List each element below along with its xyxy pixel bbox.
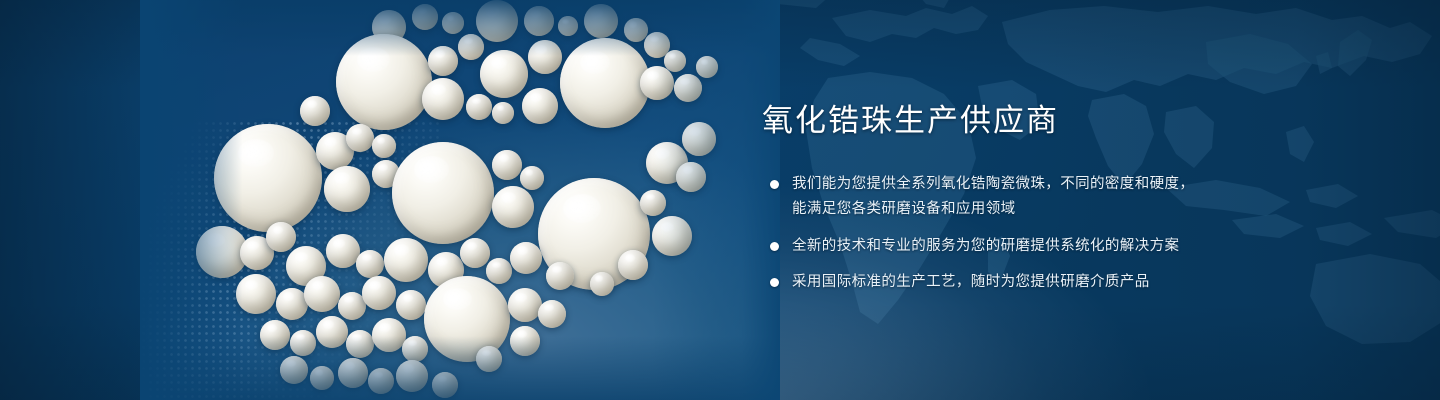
- bullet-line: 我们能为您提供全系列氧化锆陶瓷微珠，不同的密度和硬度，: [792, 172, 1322, 197]
- bead: [652, 216, 692, 256]
- bead: [346, 124, 374, 152]
- bead: [372, 134, 396, 158]
- bead: [480, 50, 528, 98]
- bead: [618, 250, 648, 280]
- bead: [368, 368, 394, 394]
- bead: [560, 38, 650, 128]
- bead: [280, 356, 308, 384]
- bead: [682, 122, 716, 156]
- bead: [402, 336, 428, 362]
- bead: [214, 124, 322, 232]
- bead: [428, 46, 458, 76]
- bead: [538, 300, 566, 328]
- bead: [476, 346, 502, 372]
- bead: [492, 102, 514, 124]
- bullet-dot-icon: [770, 242, 779, 251]
- bead: [522, 88, 558, 124]
- bead: [412, 4, 438, 30]
- bead: [290, 330, 316, 356]
- bead: [640, 190, 666, 216]
- bead: [260, 320, 290, 350]
- bead: [476, 0, 518, 42]
- bead: [460, 238, 490, 268]
- bullet-dot-icon: [770, 278, 779, 287]
- bullet-line: 全新的技术和专业的服务为您的研磨提供系统化的解决方案: [792, 234, 1322, 259]
- bead: [304, 276, 340, 312]
- bead: [372, 318, 406, 352]
- hero-banner: 氧化锆珠生产供应商 我们能为您提供全系列氧化锆陶瓷微珠，不同的密度和硬度， 能满…: [0, 0, 1440, 400]
- bead: [524, 6, 554, 36]
- bead: [396, 360, 428, 392]
- bead: [316, 316, 348, 348]
- bead: [422, 78, 464, 120]
- bead: [326, 234, 360, 268]
- bead: [338, 358, 368, 388]
- bead: [396, 290, 426, 320]
- bead: [492, 150, 522, 180]
- bullet-dot-icon: [770, 180, 779, 189]
- bead: [696, 56, 718, 78]
- bead: [558, 16, 578, 36]
- banner-bullet-list: 我们能为您提供全系列氧化锆陶瓷微珠，不同的密度和硬度， 能满足您各类研磨设备和应…: [762, 172, 1322, 296]
- bead: [508, 288, 542, 322]
- bead: [584, 4, 618, 38]
- bead: [492, 186, 534, 228]
- bead: [674, 74, 702, 102]
- bead: [266, 222, 296, 252]
- bead: [528, 40, 562, 74]
- bullet-item: 采用国际标准的生产工艺，随时为您提供研磨介质产品: [762, 270, 1322, 295]
- bead: [486, 258, 512, 284]
- bead: [458, 34, 484, 60]
- bead: [346, 330, 374, 358]
- bead-cluster: [140, 0, 780, 400]
- bead: [590, 272, 614, 296]
- bead: [442, 12, 464, 34]
- bead: [384, 238, 428, 282]
- bead: [300, 96, 330, 126]
- bead: [510, 326, 540, 356]
- bead: [676, 162, 706, 192]
- bead: [432, 372, 458, 398]
- bullet-line: 能满足您各类研磨设备和应用领域: [792, 197, 1322, 222]
- bullet-line: 采用国际标准的生产工艺，随时为您提供研磨介质产品: [792, 270, 1322, 295]
- banner-headline: 氧化锆珠生产供应商: [762, 104, 1322, 138]
- bead: [324, 166, 370, 212]
- banner-copy: 氧化锆珠生产供应商 我们能为您提供全系列氧化锆陶瓷微珠，不同的密度和硬度， 能满…: [762, 104, 1322, 296]
- bullet-item: 我们能为您提供全系列氧化锆陶瓷微珠，不同的密度和硬度， 能满足您各类研磨设备和应…: [762, 172, 1322, 223]
- bead: [546, 262, 574, 290]
- bead: [336, 34, 432, 130]
- bead: [520, 166, 544, 190]
- bead: [310, 366, 334, 390]
- zirconia-beads-photo: [140, 0, 780, 400]
- bead: [236, 274, 276, 314]
- bead: [466, 94, 492, 120]
- bullet-item: 全新的技术和专业的服务为您的研磨提供系统化的解决方案: [762, 234, 1322, 259]
- bead: [392, 142, 494, 244]
- bead: [362, 276, 396, 310]
- bead: [640, 66, 674, 100]
- bead: [356, 250, 384, 278]
- bead: [510, 242, 542, 274]
